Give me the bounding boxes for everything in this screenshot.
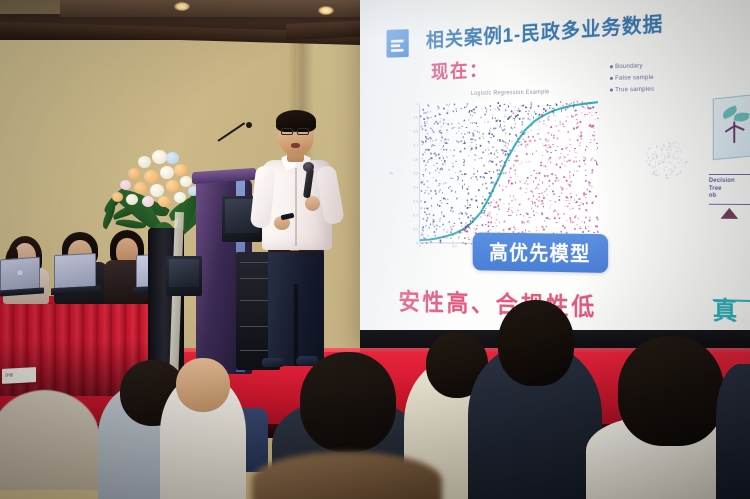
chart-point xyxy=(424,192,425,193)
chart-point xyxy=(517,114,518,116)
legend-item: True samples xyxy=(610,85,700,94)
conference-photo: 相关案例1-民政多业务数据 现在： Logistic Regression Ex… xyxy=(0,0,750,499)
legend-bullet xyxy=(610,89,612,91)
chart-point xyxy=(500,124,501,126)
chart-plot-area: 00.10.20.30.40.50.60.70.80.9100.20.40.60… xyxy=(419,100,597,245)
chart-point xyxy=(475,146,476,148)
divider xyxy=(709,204,750,205)
chart-point xyxy=(429,172,430,173)
chart-point xyxy=(545,139,546,141)
flower xyxy=(166,152,179,164)
chart-legend: BoundaryFalse sampleTrue samples xyxy=(610,61,700,98)
chart-point xyxy=(509,195,510,197)
chart-point xyxy=(574,199,575,201)
chart-point xyxy=(526,180,527,182)
chart-point xyxy=(426,149,427,150)
chart-point xyxy=(528,161,529,163)
chart-ytick: 0.6 xyxy=(413,157,418,162)
chart-point xyxy=(573,174,574,176)
chart-point xyxy=(426,243,427,245)
chart-point xyxy=(471,115,472,117)
chart-point xyxy=(528,136,529,138)
chart-point xyxy=(484,114,485,116)
chart-point xyxy=(505,153,506,155)
chart-point xyxy=(524,141,525,143)
cluster-point xyxy=(681,166,682,167)
chart-point xyxy=(439,205,440,207)
cluster-point xyxy=(658,161,659,162)
chart-point xyxy=(491,133,492,135)
chart-point xyxy=(593,201,594,203)
chart-point xyxy=(443,215,444,217)
chart-point xyxy=(508,203,509,205)
chart-point xyxy=(503,203,504,205)
chart-point xyxy=(527,221,528,223)
chart-point xyxy=(507,211,508,213)
chart-point xyxy=(561,148,562,150)
chart-point xyxy=(528,231,529,233)
chart-point xyxy=(448,169,449,170)
chart-point xyxy=(570,193,571,195)
chart-point xyxy=(509,150,510,152)
chart-point xyxy=(583,195,584,197)
chart-point xyxy=(538,114,539,116)
chart-point xyxy=(541,213,542,215)
chart-point xyxy=(467,231,468,233)
chart-point xyxy=(527,213,528,215)
chart-point xyxy=(440,242,441,244)
legend-item: Boundary xyxy=(610,61,700,70)
chart-point xyxy=(490,105,491,107)
chart-point xyxy=(475,148,476,150)
chart-point xyxy=(556,164,557,166)
chart-point xyxy=(571,181,572,183)
chart-point xyxy=(559,199,560,201)
cluster-point xyxy=(674,158,675,159)
chart-point xyxy=(462,242,463,244)
flower xyxy=(138,156,151,168)
chart-point xyxy=(540,165,541,167)
chart-point xyxy=(547,104,548,106)
chart-point xyxy=(439,157,440,158)
chart-point xyxy=(505,186,506,188)
chart-point xyxy=(475,139,476,141)
cluster-point xyxy=(655,158,656,159)
chart-point xyxy=(585,180,586,182)
chart-point xyxy=(535,113,536,115)
chart-point xyxy=(453,225,454,227)
chart-point xyxy=(487,215,488,217)
chart-point xyxy=(514,170,515,172)
chart-point xyxy=(577,139,578,141)
chart-title: Logistic Regression Example xyxy=(431,89,591,98)
chart-point xyxy=(423,175,424,176)
chart-point xyxy=(466,200,467,202)
flower xyxy=(174,192,186,203)
chart-point xyxy=(554,210,555,212)
chart-point xyxy=(435,116,436,118)
chart-point xyxy=(561,231,562,233)
chart-point xyxy=(458,127,459,129)
chart-point xyxy=(423,141,424,142)
slide-content: 相关案例1-民政多业务数据 现在： Logistic Regression Ex… xyxy=(393,0,750,350)
chart-point xyxy=(423,184,424,185)
chart-point xyxy=(541,203,542,205)
chart-point xyxy=(458,141,459,143)
cluster-point xyxy=(675,141,676,142)
chart-point xyxy=(450,226,451,228)
chart-point xyxy=(451,207,452,209)
chart-point xyxy=(481,157,482,159)
judge-name-card: 评委 xyxy=(2,367,36,384)
chart-point xyxy=(580,121,581,123)
chart-point xyxy=(573,161,574,163)
chart-point xyxy=(552,183,553,185)
cluster-point xyxy=(667,149,668,150)
chart-point xyxy=(532,136,533,138)
chart-point xyxy=(495,206,496,208)
chart-point xyxy=(449,186,450,187)
chart-point xyxy=(503,172,504,174)
projection-screen: 相关案例1-民政多业务数据 现在： Logistic Regression Ex… xyxy=(360,0,750,350)
chart-point xyxy=(517,145,518,147)
chart-point xyxy=(475,195,476,197)
chart-point xyxy=(596,143,597,145)
glasses-lens-left xyxy=(281,128,293,135)
chart-point xyxy=(496,150,497,152)
chart-ytick: 0 xyxy=(416,241,418,246)
chart-point xyxy=(460,232,461,234)
chart-point xyxy=(496,202,497,204)
chart-point xyxy=(464,230,465,232)
chart-point xyxy=(582,203,583,205)
chart-point xyxy=(459,213,460,215)
chart-point xyxy=(586,189,587,191)
chart-point xyxy=(554,218,555,220)
chart-point xyxy=(509,134,510,136)
chart-point xyxy=(512,113,513,115)
chart-point xyxy=(493,136,494,138)
tree-leaf xyxy=(733,112,749,123)
cluster-point xyxy=(673,142,674,143)
chart-point xyxy=(576,127,577,129)
chart-point xyxy=(422,243,423,245)
flower xyxy=(166,180,179,192)
chart-ytick: 0.1 xyxy=(413,227,418,232)
chart-point xyxy=(471,148,472,150)
cluster-point xyxy=(664,155,665,156)
chart-point xyxy=(498,204,499,206)
chart-point xyxy=(469,132,470,134)
chart-point xyxy=(538,200,539,202)
chart-point xyxy=(467,189,468,191)
chart-point xyxy=(467,132,468,134)
chart-point xyxy=(572,221,573,223)
chart-point xyxy=(539,193,540,195)
chart-point xyxy=(597,219,598,221)
chart-point xyxy=(438,153,439,154)
audience-head xyxy=(498,300,574,386)
chart-point xyxy=(443,123,444,125)
chart-point xyxy=(561,192,562,194)
chart-point xyxy=(533,170,534,172)
legend-label: False sample xyxy=(615,74,654,82)
chart-point xyxy=(445,139,446,141)
chart-point xyxy=(537,206,538,208)
chart-point xyxy=(457,179,458,180)
chart-point xyxy=(475,229,476,231)
chart-point xyxy=(504,145,505,147)
chart-point xyxy=(425,225,426,227)
chart-point xyxy=(586,146,587,148)
chart-point xyxy=(426,207,427,208)
cluster-point xyxy=(671,143,672,144)
chart-point xyxy=(538,184,539,186)
laptop-lid xyxy=(0,257,40,292)
audience-head xyxy=(300,352,396,452)
chart-point xyxy=(424,212,425,213)
chart-point xyxy=(460,140,461,142)
chart-point xyxy=(468,217,469,219)
chart-point xyxy=(564,156,565,158)
chart-point xyxy=(577,126,578,128)
chart-point xyxy=(477,200,478,202)
chart-point xyxy=(526,212,527,214)
chart-point xyxy=(467,193,468,195)
cluster-point xyxy=(665,158,666,159)
legend-bullet xyxy=(610,65,612,67)
cluster-point xyxy=(681,171,682,172)
chart-point xyxy=(577,122,578,124)
chart-point xyxy=(470,214,471,216)
chart-point xyxy=(585,217,586,219)
cluster-point xyxy=(667,177,668,178)
chart-point xyxy=(527,113,528,115)
chart-ytick: 0.2 xyxy=(413,213,418,218)
cluster-point xyxy=(676,142,677,143)
chart-point xyxy=(546,189,547,191)
decision-tree-icon xyxy=(713,94,750,160)
cluster-point xyxy=(685,161,686,162)
chart-point xyxy=(561,189,562,191)
chart-point xyxy=(525,229,526,231)
chart-point xyxy=(499,140,500,142)
chart-point xyxy=(505,132,506,134)
chart-ytick: 0.3 xyxy=(413,199,418,204)
chart-point xyxy=(592,202,593,204)
cluster-point xyxy=(663,145,664,146)
chart-point xyxy=(479,138,480,140)
chart-point xyxy=(442,224,443,226)
chart-point xyxy=(569,171,570,173)
chart-point xyxy=(504,129,505,131)
chart-ytick: 0.4 xyxy=(413,185,418,190)
cluster-point xyxy=(680,172,681,173)
legend-item: False sample xyxy=(610,73,700,82)
glasses-bridge xyxy=(293,131,297,132)
chart-point xyxy=(474,159,475,161)
chart-point xyxy=(564,227,565,229)
chart-point xyxy=(481,212,482,214)
audience-shoulder xyxy=(0,390,100,490)
chart-point xyxy=(488,225,489,227)
chart-point xyxy=(585,158,586,160)
chart-point xyxy=(471,199,472,201)
chart-point xyxy=(441,202,442,203)
cluster-point xyxy=(669,169,670,170)
cluster-point xyxy=(651,167,652,168)
chart-point xyxy=(532,203,533,205)
cluster-point xyxy=(661,154,662,155)
flower xyxy=(112,192,123,202)
cluster-point xyxy=(648,157,649,158)
chart-point xyxy=(539,121,540,123)
cluster-point xyxy=(669,143,670,144)
chart-point xyxy=(466,213,467,215)
chart-point xyxy=(542,227,543,229)
chart-point xyxy=(588,230,589,232)
slide-cta-button: 高优先模型 xyxy=(473,232,608,273)
chart-point xyxy=(429,137,430,138)
chart-point xyxy=(508,106,509,108)
chart-point xyxy=(553,137,554,139)
chart-point xyxy=(447,203,448,205)
chart-point xyxy=(439,226,440,228)
chart-point xyxy=(427,187,428,188)
chart-point xyxy=(579,205,580,207)
chart-point xyxy=(547,217,548,219)
chart-point xyxy=(533,181,534,183)
chart-point xyxy=(439,183,440,184)
chart-point xyxy=(573,127,574,129)
chart-point xyxy=(545,145,546,147)
chart-point xyxy=(569,150,570,152)
chart-point xyxy=(523,222,524,224)
slide-bottom-text: 安性高、合规性低 xyxy=(399,283,747,327)
chart-point xyxy=(544,175,545,177)
chart-point xyxy=(430,111,431,113)
chart-point xyxy=(499,126,500,128)
chart-point xyxy=(534,202,535,204)
chart-point xyxy=(424,238,425,240)
chart-point xyxy=(585,175,586,177)
chart-point xyxy=(574,228,575,230)
flower xyxy=(174,164,187,176)
chart-point xyxy=(584,221,585,223)
chart-point xyxy=(576,101,577,103)
cluster-point xyxy=(661,151,662,152)
chart-point xyxy=(551,126,552,128)
chart-point xyxy=(591,125,592,127)
chart-point xyxy=(557,146,558,148)
chart-point xyxy=(590,107,591,109)
chart-point xyxy=(554,174,555,176)
chart-point xyxy=(429,149,430,150)
chart-point xyxy=(566,180,567,182)
chart-point xyxy=(484,165,485,167)
cluster-point xyxy=(679,150,680,151)
chart-point xyxy=(534,140,535,142)
cluster-point xyxy=(681,160,682,161)
chart-point xyxy=(515,156,516,158)
chart-point xyxy=(492,161,493,163)
chart-point xyxy=(486,187,487,189)
chart-point xyxy=(533,214,534,216)
chart-point xyxy=(585,209,586,211)
chart-point xyxy=(452,127,453,129)
chart-point xyxy=(467,207,468,209)
chart-point xyxy=(488,203,489,205)
cluster-point xyxy=(646,153,647,154)
chart-point xyxy=(443,229,444,231)
chart-point xyxy=(450,210,451,212)
flower xyxy=(150,184,164,197)
chart-point xyxy=(589,220,590,222)
chart-point xyxy=(567,107,568,109)
cluster-point xyxy=(653,173,654,174)
chart-point xyxy=(482,133,483,135)
chart-point xyxy=(448,123,449,125)
cluster-point xyxy=(671,162,672,163)
chart-point xyxy=(499,199,500,201)
chart-point xyxy=(560,121,561,123)
chart-point xyxy=(426,138,427,139)
chart-point xyxy=(426,116,427,118)
cluster-point xyxy=(656,157,657,158)
legend-bullet xyxy=(610,77,612,79)
chart-point xyxy=(511,127,512,129)
ceiling-spotlight xyxy=(174,2,190,11)
chart-point xyxy=(527,177,528,179)
cluster-point xyxy=(681,152,682,153)
chart-point xyxy=(423,226,424,228)
chart-point xyxy=(430,224,431,226)
chart-point xyxy=(443,236,444,238)
laptop-lid xyxy=(54,253,96,289)
chart-point xyxy=(545,110,546,112)
chart-point xyxy=(526,153,527,155)
chart-point xyxy=(565,120,566,122)
chart-point xyxy=(454,149,455,151)
audience-head xyxy=(618,336,724,446)
chart-point xyxy=(473,173,474,175)
chart-point xyxy=(548,132,549,134)
cluster-point xyxy=(655,174,656,175)
cluster-point xyxy=(672,157,673,158)
chart-point xyxy=(427,217,428,218)
chart-point xyxy=(514,119,515,121)
chart-point xyxy=(488,222,489,224)
cluster-point xyxy=(656,146,657,147)
chart-point xyxy=(433,214,434,216)
chart-point xyxy=(545,226,546,228)
chart-point xyxy=(571,196,572,198)
chart-point xyxy=(560,167,561,169)
chart-point xyxy=(576,201,577,203)
chart-point xyxy=(423,160,424,161)
chart-point xyxy=(427,162,428,163)
chart-point xyxy=(425,130,426,131)
chart-point xyxy=(501,169,502,171)
chart-point xyxy=(574,216,575,218)
chart-point xyxy=(593,125,594,127)
chart-point xyxy=(432,140,433,141)
chart-point xyxy=(542,193,543,195)
chart-point xyxy=(464,237,465,239)
chart-point xyxy=(498,102,499,104)
chart-point xyxy=(469,227,470,229)
cluster-point xyxy=(653,143,654,144)
